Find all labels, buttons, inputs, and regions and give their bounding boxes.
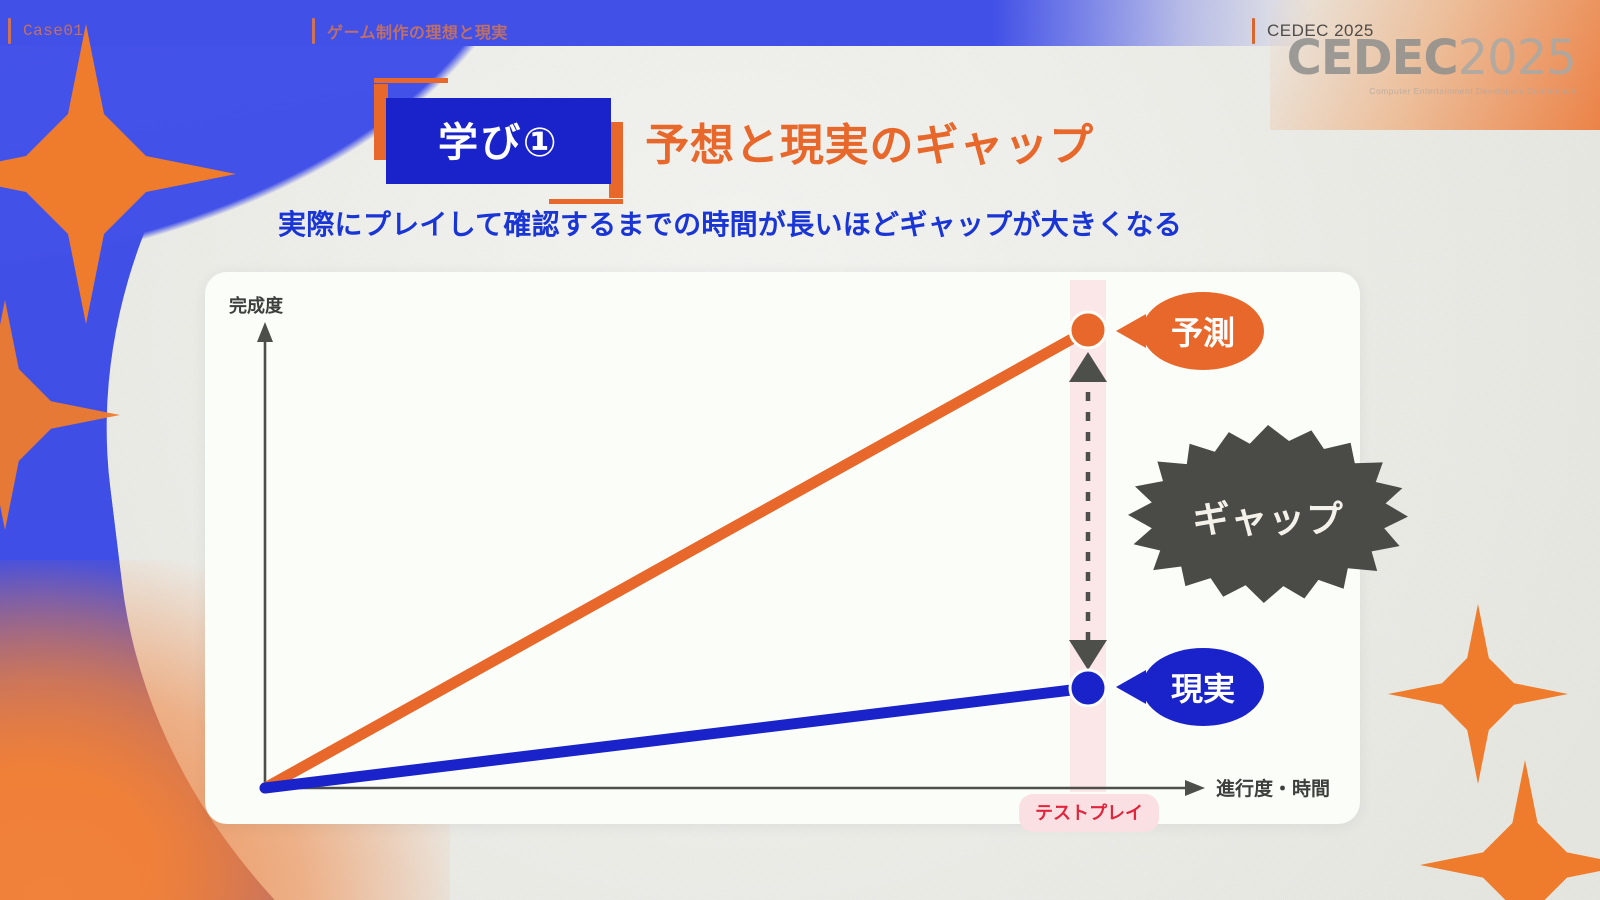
callout-reality: 現実	[1142, 648, 1264, 726]
page-title: 予想と現実のギャップ	[645, 109, 1094, 173]
page-subtitle: 実際にプレイして確認するまでの時間が長いほどギャップが大きくなる	[278, 203, 1182, 243]
header-rule-theme	[312, 18, 315, 44]
cedec-logo: CEDEC2025 Computer Entertainment Develop…	[1287, 34, 1576, 96]
testplay-badge: テストプレイ	[1019, 794, 1159, 832]
callout-reality-label: 現実	[1171, 664, 1235, 710]
x-axis-label: 進行度・時間	[1216, 774, 1330, 801]
header-case-label: Case01	[23, 22, 84, 40]
y-axis-label: 完成度	[229, 292, 283, 318]
header-case-breadcrumb: Case01	[8, 18, 84, 44]
header-theme-label: ゲーム制作の理想と現実	[327, 19, 508, 43]
slide-root: Case01 ゲーム制作の理想と現実 CEDEC 2025 CEDEC2025 …	[0, 0, 1600, 900]
learning-badge-wrap: 学び①	[386, 98, 611, 184]
cedec-logo-tagline: Computer Entertainment Developers Confer…	[1287, 86, 1576, 96]
gap-starburst-label: ギャップ	[1193, 489, 1344, 543]
title-row: 学び① 予想と現実のギャップ	[386, 98, 1094, 184]
callout-prediction-label: 予測	[1171, 308, 1235, 354]
badge-accent-right	[609, 122, 623, 198]
cedec-logo-name: CEDEC	[1287, 30, 1458, 86]
header-rule-event	[1252, 18, 1255, 44]
cedec-logo-wordmark: CEDEC2025	[1287, 34, 1576, 82]
header-rule-case	[8, 18, 11, 44]
cedec-logo-year: 2025	[1458, 30, 1576, 86]
callout-prediction: 予測	[1142, 292, 1264, 370]
header-theme-breadcrumb: ゲーム制作の理想と現実	[312, 18, 508, 44]
learning-badge: 学び①	[386, 98, 611, 184]
